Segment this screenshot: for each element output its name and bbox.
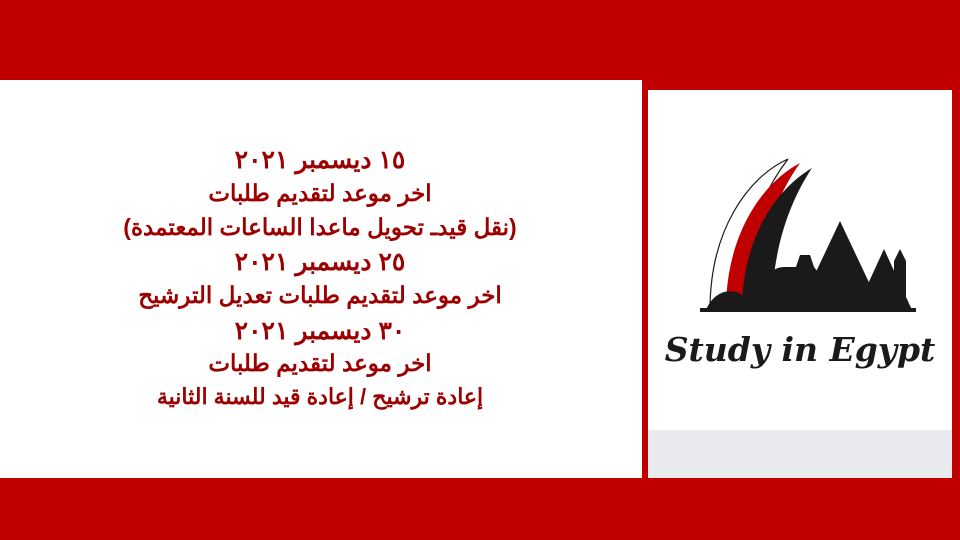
announcement-line-date-3: ٣٠ ديسمبر ٢٠٢١ [235, 315, 406, 348]
announcement-panel: ١٥ ديسمبر ٢٠٢١ اخر موعد لتقديم طلبات (نق… [6, 86, 634, 476]
announcement-line-caption-3: اخر موعد لتقديم طلبات تعديل الترشيح [138, 281, 502, 311]
logo-caption: Study in Egypt [648, 330, 952, 369]
logo-card-footer-strip [648, 430, 952, 478]
announcement-line-date-2: ٢٥ ديسمبر ٢٠٢١ [235, 246, 406, 279]
decor-band-bottom-left [0, 478, 640, 540]
obelisk-icon [894, 249, 906, 310]
ground-line [700, 308, 916, 312]
announcement-line-caption-1: اخر موعد لتقديم طلبات [208, 179, 431, 209]
announcement-line-date-1: ١٥ ديسمبر ٢٠٢١ [235, 144, 406, 177]
slide-canvas: ١٥ ديسمبر ٢٠٢١ اخر موعد لتقديم طلبات (نق… [0, 0, 960, 540]
study-in-egypt-logo [648, 90, 952, 430]
decor-band-top-left [0, 0, 640, 80]
announcement-line-caption-5: إعادة ترشيح / إعادة قيد للسنة الثانية [157, 383, 483, 412]
decor-separator-vertical [636, 80, 642, 478]
announcement-line-caption-2: (نقل قيدـ تحويل ماعدا الساعات المعتمدة) [123, 213, 516, 243]
announcement-line-caption-4: اخر موعد لتقديم طلبات [208, 349, 431, 379]
